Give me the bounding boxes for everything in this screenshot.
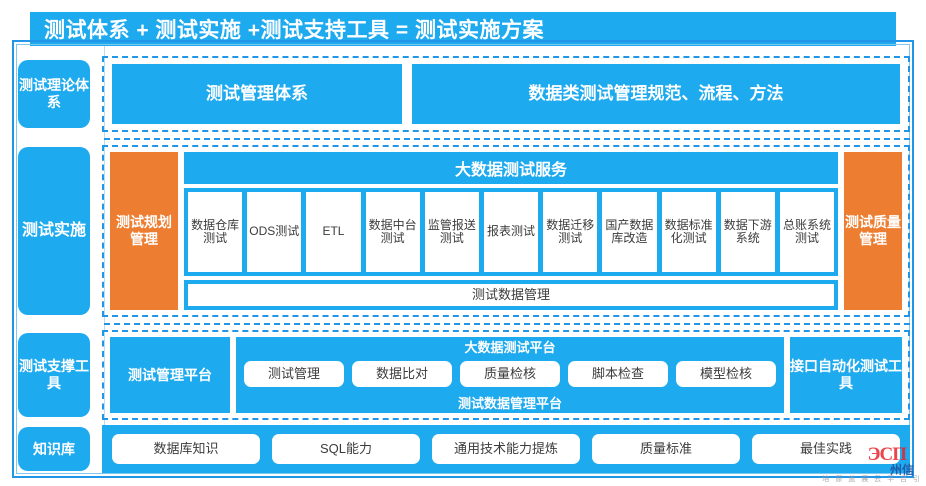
band-implementation: 测试实施 测试规划管理 大数据测试服务 数据仓库测试 ODS测试 ETL 数据中…: [16, 145, 910, 317]
knowledge-item[interactable]: 通用技术能力提炼: [432, 434, 580, 464]
platform-chip[interactable]: 数据比对: [352, 361, 452, 387]
knowledge-strip: 数据库知识 SQL能力 通用技术能力提炼 质量标准 最佳实践: [102, 425, 910, 473]
service-cell-row: 数据仓库测试 ODS测试 ETL 数据中台测试 监管报送测试 报表测试 数据迁移…: [184, 188, 838, 276]
platform-chip[interactable]: 测试管理: [244, 361, 344, 387]
knowledge-item[interactable]: 数据库知识: [112, 434, 260, 464]
big-data-test-service-panel: 大数据测试服务 数据仓库测试 ODS测试 ETL 数据中台测试 监管报送测试 报…: [184, 152, 838, 310]
service-cell[interactable]: 数据下游系统: [720, 191, 776, 273]
platform-chip[interactable]: 模型检核: [676, 361, 776, 387]
platform-chip[interactable]: 脚本检查: [568, 361, 668, 387]
band-knowledge-base: 知识库 数据库知识 SQL能力 通用技术能力提炼 质量标准 最佳实践: [16, 425, 910, 473]
service-panel-title: 大数据测试服务: [184, 152, 838, 184]
pillar-test-planning-management[interactable]: 测试规划管理: [110, 152, 178, 310]
big-data-test-platform-panel: 大数据测试平台 测试管理 数据比对 质量检核 脚本检查 模型检核 测试数据管理平…: [236, 337, 784, 413]
service-cell[interactable]: 报表测试: [483, 191, 539, 273]
platform-chip[interactable]: 质量检核: [460, 361, 560, 387]
support-dashed-container: 测试管理平台 大数据测试平台 测试管理 数据比对 质量检核 脚本检查 模型检核 …: [102, 330, 910, 420]
row-label-knowledge-base[interactable]: 知识库: [18, 427, 90, 471]
knowledge-item[interactable]: 最佳实践: [752, 434, 900, 464]
service-cell[interactable]: 数据仓库测试: [187, 191, 243, 273]
band-theory: 测试理论体系 测试管理体系 数据类测试管理规范、流程、方法: [16, 56, 910, 132]
slide-canvas: 测试体系 + 测试实施 +测试支持工具 = 测试实施方案 测试理论体系 测试管理…: [0, 0, 926, 486]
theory-dashed-container: 测试管理体系 数据类测试管理规范、流程、方法: [102, 56, 910, 132]
service-cell[interactable]: 数据标准化测试: [661, 191, 717, 273]
implementation-dashed-container: 测试规划管理 大数据测试服务 数据仓库测试 ODS测试 ETL 数据中台测试 监…: [102, 145, 910, 317]
theory-box-data-standards[interactable]: 数据类测试管理规范、流程、方法: [412, 64, 900, 124]
service-footer-row: 测试数据管理: [184, 280, 838, 310]
row-label-implementation[interactable]: 测试实施: [18, 147, 90, 315]
service-cell[interactable]: 总账系统测试: [779, 191, 835, 273]
separator-implementation-support: [104, 323, 910, 325]
theory-box-management-system[interactable]: 测试管理体系: [112, 64, 402, 124]
service-cell[interactable]: ETL: [305, 191, 361, 273]
service-cell[interactable]: 数据中台测试: [365, 191, 421, 273]
service-cell[interactable]: ODS测试: [246, 191, 302, 273]
knowledge-item[interactable]: 质量标准: [592, 434, 740, 464]
separator-theory-implementation: [104, 138, 910, 140]
platform-panel-title: 大数据测试平台: [236, 337, 784, 356]
row-label-theory[interactable]: 测试理论体系: [18, 60, 90, 128]
pillar-test-quality-management[interactable]: 测试质量管理: [844, 152, 902, 310]
band-support-tools: 测试支撑工具 测试管理平台 大数据测试平台 测试管理 数据比对 质量检核 脚本检…: [16, 330, 910, 420]
platform-panel-footer: 测试数据管理平台: [236, 392, 784, 413]
service-cell[interactable]: 监管报送测试: [424, 191, 480, 273]
platform-chip-row: 测试管理 数据比对 质量检核 脚本检查 模型检核: [236, 356, 784, 392]
service-cell[interactable]: 国产数据库改造: [601, 191, 657, 273]
api-automation-tool-box[interactable]: 接口自动化测试工具: [790, 337, 902, 413]
service-cell[interactable]: 数据迁移测试: [542, 191, 598, 273]
test-management-platform-box[interactable]: 测试管理平台: [110, 337, 230, 413]
test-data-management-bar[interactable]: 测试数据管理: [187, 283, 835, 307]
knowledge-item[interactable]: SQL能力: [272, 434, 420, 464]
row-label-support-tools[interactable]: 测试支撑工具: [18, 333, 90, 417]
